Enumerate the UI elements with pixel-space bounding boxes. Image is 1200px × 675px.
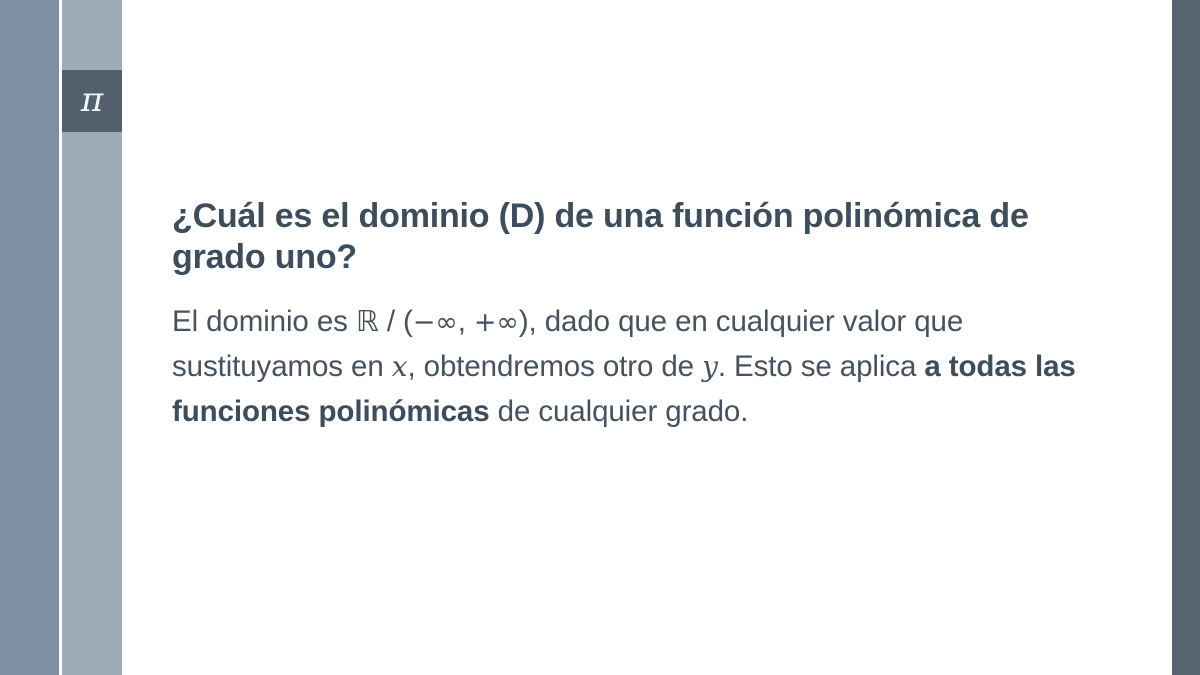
page-title: ¿Cuál es el dominio (D) de una función p…	[172, 196, 1032, 279]
pi-badge: π	[62, 70, 122, 132]
body-text-part-1: El dominio es	[172, 305, 356, 338]
body-text-part-6: . Esto se aplica	[718, 350, 925, 383]
right-accent-band	[1172, 0, 1200, 675]
negative-infinity-symbol: −∞	[413, 307, 458, 338]
slide-canvas: π ¿Cuál es el dominio (D) de una función…	[0, 0, 1200, 675]
variable-x: x	[392, 350, 408, 383]
body-text-part-3: ,	[458, 305, 474, 338]
variable-y: y	[702, 350, 718, 383]
real-numbers-symbol: ℝ	[356, 304, 379, 338]
slide-content: ¿Cuál es el dominio (D) de una función p…	[172, 196, 1102, 434]
positive-infinity-symbol: +∞	[474, 307, 519, 338]
body-paragraph: El dominio es ℝ / (−∞, +∞), dado que en …	[172, 299, 1102, 434]
body-text-part-2: / (	[379, 305, 413, 338]
body-text-part-7: de cualquier grado.	[490, 395, 749, 428]
body-text-part-5: , obtendremos otro de	[407, 350, 702, 383]
left-accent-band-dark	[0, 0, 59, 675]
pi-icon: π	[81, 83, 103, 120]
